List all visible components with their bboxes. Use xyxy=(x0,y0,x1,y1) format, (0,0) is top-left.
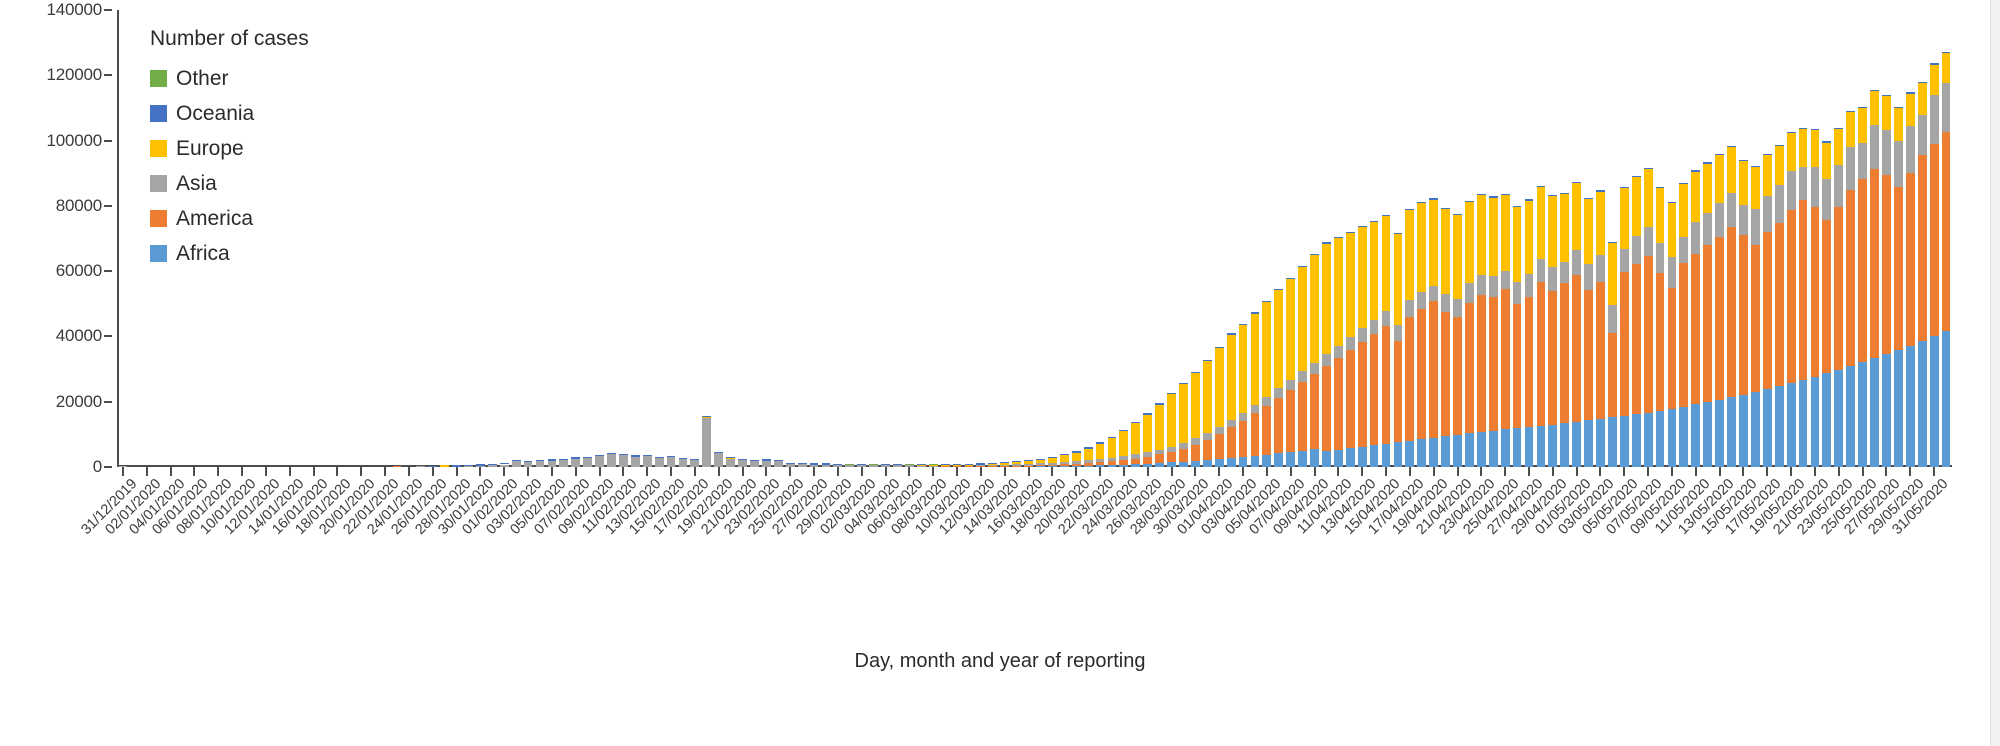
bar-segment-oceania xyxy=(1453,214,1462,215)
bar-segment-africa xyxy=(1370,445,1379,467)
bar-column[interactable] xyxy=(1584,199,1593,467)
x-axis-tick-mark xyxy=(1504,467,1506,476)
bar-segment-oceania xyxy=(1584,198,1593,199)
bar-column[interactable] xyxy=(1691,172,1700,467)
bar-segment-oceania xyxy=(1072,451,1081,452)
bar-segment-asia xyxy=(1227,420,1236,428)
bar-segment-europe xyxy=(1560,194,1569,263)
bar-column[interactable] xyxy=(559,460,568,467)
bar-segment-asia xyxy=(1870,125,1879,169)
bar-segment-africa xyxy=(1298,451,1307,467)
bar-segment-asia xyxy=(1525,274,1534,297)
bar-column[interactable] xyxy=(1596,192,1605,467)
bar-segment-america xyxy=(1942,132,1951,331)
bar-segment-europe xyxy=(1525,201,1534,274)
bar-segment-europe xyxy=(1596,192,1605,256)
bar-column[interactable] xyxy=(1787,133,1796,467)
bar-segment-oceania xyxy=(1370,221,1379,222)
bar-segment-europe xyxy=(1405,210,1414,300)
bar-segment-europe xyxy=(1906,94,1915,126)
bar-segment-africa xyxy=(1417,439,1426,467)
bar-segment-oceania xyxy=(1882,95,1891,96)
y-axis-tick-mark xyxy=(104,270,112,272)
bar-segment-africa xyxy=(1358,447,1367,467)
bar-column[interactable] xyxy=(1429,199,1438,467)
bar-column[interactable] xyxy=(1453,215,1462,467)
bar-segment-america xyxy=(1560,283,1569,423)
bar-segment-oceania xyxy=(1143,413,1152,415)
bar-segment-oceania xyxy=(1131,422,1140,424)
x-axis-tick-mark xyxy=(1242,467,1244,476)
bar-column[interactable] xyxy=(1477,195,1486,467)
bar-segment-oceania xyxy=(1119,430,1128,432)
bar-column[interactable] xyxy=(1119,430,1128,467)
bar-segment-africa xyxy=(1537,426,1546,467)
bar-segment-america xyxy=(1930,144,1939,337)
bar-segment-europe xyxy=(1799,129,1808,167)
legend-swatch-asia-icon xyxy=(150,175,167,192)
x-axis-tick-mark xyxy=(313,467,315,476)
bar-segment-africa xyxy=(1799,380,1808,467)
bar-segment-africa xyxy=(1322,451,1331,467)
bar-column[interactable] xyxy=(1703,164,1712,467)
bar-column[interactable] xyxy=(1251,313,1260,467)
bar-segment-oceania xyxy=(1358,226,1367,227)
bar-column[interactable] xyxy=(1727,147,1736,467)
bar-column[interactable] xyxy=(1715,155,1724,467)
bar-column[interactable] xyxy=(571,458,580,467)
bar-segment-oceania xyxy=(1763,154,1772,155)
bar-column[interactable] xyxy=(1763,155,1772,467)
bar-segment-africa xyxy=(1846,366,1855,467)
bar-segment-asia xyxy=(1548,267,1557,291)
bar-segment-africa xyxy=(1215,459,1224,467)
bar-column[interactable] xyxy=(1644,169,1653,467)
bar-segment-europe xyxy=(1620,188,1629,248)
bar-column[interactable] xyxy=(1858,108,1867,467)
bar-segment-europe xyxy=(1119,431,1128,456)
bar-segment-oceania xyxy=(1525,199,1534,200)
bar-segment-oceania xyxy=(1155,403,1164,405)
bar-segment-america xyxy=(1346,350,1355,448)
bar-segment-oceania xyxy=(1227,333,1236,334)
x-axis-tick-mark xyxy=(122,467,124,476)
bar-segment-europe xyxy=(1846,112,1855,147)
legend-item-other[interactable]: Other xyxy=(150,61,410,96)
x-axis-tick-mark xyxy=(1695,467,1697,476)
bar-column[interactable] xyxy=(1930,65,1939,467)
bar-column[interactable] xyxy=(1822,143,1831,467)
bar-segment-america xyxy=(1644,256,1653,413)
bar-column[interactable] xyxy=(1358,227,1367,467)
bar-segment-america xyxy=(1525,297,1534,428)
bar-column[interactable] xyxy=(1072,451,1081,467)
bar-column[interactable] xyxy=(1870,91,1879,467)
bar-column[interactable] xyxy=(1834,129,1843,467)
bar-segment-oceania xyxy=(893,464,902,465)
legend-swatch-america-icon xyxy=(150,210,167,227)
legend-item-oceania[interactable]: Oceania xyxy=(150,96,410,131)
bar-segment-asia xyxy=(1477,275,1486,295)
bar-segment-oceania xyxy=(1012,461,1021,462)
bar-segment-oceania xyxy=(1000,462,1009,463)
bar-column[interactable] xyxy=(1310,255,1319,467)
bar-segment-europe xyxy=(1679,184,1688,236)
bar-segment-america xyxy=(1870,169,1879,358)
bar-column[interactable] xyxy=(1322,243,1331,467)
bar-column[interactable] xyxy=(1179,383,1188,467)
bar-segment-asia xyxy=(1251,405,1260,413)
x-axis-tick-mark xyxy=(646,467,648,476)
bar-segment-america xyxy=(1584,290,1593,421)
covid-cases-stacked-bar-chart: 140000120000100000800006000040000200000 … xyxy=(0,0,2000,746)
bar-segment-asia xyxy=(1489,276,1498,297)
bar-segment-asia xyxy=(1644,227,1653,256)
x-axis-tick-mark xyxy=(956,467,958,476)
bar-column[interactable] xyxy=(679,459,688,467)
bar-segment-europe xyxy=(1882,96,1891,129)
bar-segment-oceania xyxy=(988,463,997,464)
bar-segment-africa xyxy=(1775,386,1784,467)
bar-segment-oceania xyxy=(536,460,545,461)
bar-segment-asia xyxy=(1787,171,1796,210)
bar-column[interactable] xyxy=(1382,216,1391,467)
bar-segment-america xyxy=(1072,464,1081,466)
bar-segment-oceania xyxy=(1751,166,1760,167)
bar-segment-europe xyxy=(1465,202,1474,284)
bar-segment-asia xyxy=(607,454,616,467)
bar-column[interactable] xyxy=(1048,457,1057,467)
bar-column[interactable] xyxy=(1334,238,1343,467)
bar-segment-america xyxy=(1715,237,1724,400)
bar-column[interactable] xyxy=(1775,146,1784,467)
bar-segment-oceania xyxy=(1024,460,1033,461)
y-axis-tick-mark xyxy=(104,74,112,76)
bar-column[interactable] xyxy=(1465,202,1474,467)
bar-segment-oceania xyxy=(583,457,592,458)
x-axis-tick-mark xyxy=(908,467,910,476)
bar-segment-america xyxy=(1548,291,1557,425)
y-axis-tick-label: 80000 xyxy=(56,196,102,216)
bar-segment-america xyxy=(1060,464,1069,466)
bar-column[interactable] xyxy=(1346,232,1355,467)
bar-segment-america xyxy=(1262,406,1271,455)
bar-column[interactable] xyxy=(1513,207,1522,467)
bar-segment-america xyxy=(1465,303,1474,434)
legend-item-america[interactable]: America xyxy=(150,201,410,236)
legend-item-asia[interactable]: Asia xyxy=(150,166,410,201)
x-axis-tick-mark xyxy=(1790,467,1792,476)
bar-column[interactable] xyxy=(1751,167,1760,467)
bar-column[interactable] xyxy=(1799,129,1808,467)
bar-column[interactable] xyxy=(1143,413,1152,467)
bar-column[interactable] xyxy=(1203,360,1212,467)
bar-segment-america xyxy=(1882,175,1891,355)
x-axis-tick-mark xyxy=(1719,467,1721,476)
bar-segment-oceania xyxy=(1560,193,1569,194)
bar-segment-asia xyxy=(1739,205,1748,235)
bar-segment-oceania xyxy=(667,456,676,457)
bar-segment-europe xyxy=(1191,373,1200,438)
bar-segment-africa xyxy=(1679,407,1688,467)
legend-items: OtherOceaniaEuropeAsiaAmericaAfrica xyxy=(150,61,410,271)
bar-column[interactable] xyxy=(1608,243,1617,467)
bar-segment-oceania xyxy=(1108,437,1117,439)
bar-segment-america xyxy=(1822,220,1831,373)
bar-column[interactable] xyxy=(631,457,640,467)
x-axis-tick-mark xyxy=(1385,467,1387,476)
bar-segment-africa xyxy=(1227,458,1236,467)
bar-segment-asia xyxy=(1679,237,1688,263)
bar-segment-oceania xyxy=(1382,215,1391,216)
bar-column[interactable] xyxy=(643,456,652,467)
bar-segment-asia xyxy=(1608,305,1617,332)
bar-column[interactable] xyxy=(1906,93,1915,467)
bar-segment-asia xyxy=(631,457,640,467)
bar-segment-asia xyxy=(1799,167,1808,200)
bar-segment-asia xyxy=(690,460,699,467)
bar-column[interactable] xyxy=(1298,267,1307,467)
bar-column[interactable] xyxy=(1108,437,1117,467)
bar-segment-asia xyxy=(1394,325,1403,341)
bar-segment-africa xyxy=(1251,456,1260,467)
bar-column[interactable] xyxy=(1739,161,1748,467)
bar-column[interactable] xyxy=(1632,177,1641,467)
bar-segment-oceania xyxy=(1811,129,1820,130)
bar-column[interactable] xyxy=(1239,324,1248,467)
bar-column[interactable] xyxy=(1167,393,1176,467)
legend-item-europe[interactable]: Europe xyxy=(150,131,410,166)
bar-segment-asia xyxy=(1429,286,1438,301)
x-axis-tick-mark xyxy=(1862,467,1864,476)
bar-segment-europe xyxy=(1870,91,1879,125)
x-axis-tick-mark xyxy=(599,467,601,476)
bar-column[interactable] xyxy=(1894,108,1903,467)
bar-segment-africa xyxy=(1441,436,1450,467)
bar-column[interactable] xyxy=(1286,278,1295,467)
legend-item-africa[interactable]: Africa xyxy=(150,236,410,271)
bar-segment-africa xyxy=(1465,433,1474,467)
bar-column[interactable] xyxy=(667,457,676,467)
bar-segment-america xyxy=(1739,235,1748,395)
bar-column[interactable] xyxy=(1679,184,1688,467)
bar-column[interactable] xyxy=(738,460,747,467)
bar-segment-america xyxy=(1858,179,1867,362)
bar-segment-asia xyxy=(1048,463,1057,465)
bar-segment-oceania xyxy=(1513,206,1522,207)
bar-column[interactable] xyxy=(1227,334,1236,467)
bar-column[interactable] xyxy=(1882,96,1891,467)
bar-segment-europe xyxy=(1394,234,1403,325)
bar-segment-oceania xyxy=(1858,107,1867,108)
bar-segment-oceania xyxy=(1167,393,1176,394)
bar-segment-europe xyxy=(1930,65,1939,96)
bar-column[interactable] xyxy=(1560,194,1569,467)
bar-column[interactable] xyxy=(1155,403,1164,467)
bar-column[interactable] xyxy=(1811,130,1820,467)
bar-segment-asia xyxy=(1072,461,1081,464)
bar-segment-africa xyxy=(1572,422,1581,467)
bar-segment-europe xyxy=(1155,405,1164,450)
bar-segment-oceania xyxy=(679,458,688,459)
x-axis-tick-mark xyxy=(1075,467,1077,476)
bar-column[interactable] xyxy=(1131,422,1140,467)
x-axis-tick-mark xyxy=(1814,467,1816,476)
bar-segment-europe xyxy=(1489,198,1498,276)
x-axis-title-text: Day, month and year of reporting xyxy=(855,650,1146,673)
bar-segment-asia xyxy=(1215,427,1224,434)
bar-segment-oceania xyxy=(1727,146,1736,147)
bar-segment-america xyxy=(1894,187,1903,350)
bar-column[interactable] xyxy=(1656,188,1665,467)
bar-column[interactable] xyxy=(1096,442,1105,467)
bar-column[interactable] xyxy=(1215,347,1224,467)
bar-column[interactable] xyxy=(1036,459,1045,467)
bar-segment-asia xyxy=(1131,454,1140,458)
bar-segment-oceania xyxy=(1703,162,1712,163)
bar-segment-asia xyxy=(1405,300,1414,316)
bar-segment-america xyxy=(1298,382,1307,451)
bar-column[interactable] xyxy=(1405,210,1414,467)
bar-segment-asia xyxy=(1012,464,1021,465)
bar-segment-europe xyxy=(1858,108,1867,143)
bar-column[interactable] xyxy=(1548,196,1557,467)
bar-column[interactable] xyxy=(1537,187,1546,467)
y-axis-tick-label: 20000 xyxy=(56,392,102,412)
bar-column[interactable] xyxy=(619,455,628,467)
bar-segment-oceania xyxy=(1620,187,1629,188)
bar-segment-africa xyxy=(1668,409,1677,467)
x-axis-tick-mark xyxy=(789,467,791,476)
bar-segment-america xyxy=(1286,390,1295,452)
bar-segment-oceania xyxy=(619,454,628,455)
bar-column[interactable] xyxy=(595,456,604,467)
bar-segment-oceania xyxy=(1668,202,1677,203)
bar-segment-asia xyxy=(1906,126,1915,173)
bar-segment-oceania xyxy=(512,460,521,461)
bar-column[interactable] xyxy=(1262,301,1271,467)
bar-segment-asia xyxy=(1620,249,1629,273)
x-axis-tick-mark xyxy=(146,467,148,476)
bar-column[interactable] xyxy=(1525,201,1534,467)
bar-segment-oceania xyxy=(1834,128,1843,129)
bar-segment-oceania xyxy=(1799,128,1808,129)
bar-column[interactable] xyxy=(1942,53,1951,467)
bar-column[interactable] xyxy=(1191,372,1200,467)
bar-column[interactable] xyxy=(1501,195,1510,467)
bar-segment-europe xyxy=(1298,267,1307,371)
x-axis-tick-mark xyxy=(551,467,553,476)
bar-segment-asia xyxy=(714,453,723,467)
bar-segment-oceania xyxy=(1274,289,1283,290)
bar-segment-asia xyxy=(1656,243,1665,273)
bar-segment-europe xyxy=(1417,203,1426,291)
bar-segment-africa xyxy=(1548,425,1557,467)
bar-segment-oceania xyxy=(810,463,819,464)
bar-segment-oceania xyxy=(1846,111,1855,112)
x-axis-tick-mark xyxy=(241,467,243,476)
bar-segment-america xyxy=(1846,190,1855,366)
x-axis-tick-mark xyxy=(980,467,982,476)
bar-segment-asia xyxy=(1358,328,1367,342)
bar-column[interactable] xyxy=(583,458,592,467)
bar-segment-oceania xyxy=(690,459,699,460)
x-axis-tick-mark xyxy=(813,467,815,476)
page-scrollbar-edge[interactable] xyxy=(1990,0,2000,746)
bar-segment-europe xyxy=(1441,209,1450,294)
bar-column[interactable] xyxy=(1489,198,1498,467)
bar-segment-europe xyxy=(1227,335,1236,420)
bar-column[interactable] xyxy=(1846,112,1855,467)
bar-segment-oceania xyxy=(881,464,890,465)
bar-column[interactable] xyxy=(1370,222,1379,467)
x-axis-tick-mark xyxy=(1123,467,1125,476)
bar-segment-america xyxy=(1096,462,1105,465)
bar-segment-oceania xyxy=(1262,301,1271,302)
bar-segment-africa xyxy=(1715,400,1724,467)
bar-segment-asia xyxy=(1000,465,1009,466)
bar-segment-america xyxy=(1251,413,1260,455)
bar-column[interactable] xyxy=(1441,209,1450,467)
x-axis-tick-mark xyxy=(1194,467,1196,476)
x-axis-tick-mark xyxy=(170,467,172,476)
x-axis-tick-mark xyxy=(1051,467,1053,476)
bar-segment-america xyxy=(1691,254,1700,404)
bar-segment-asia xyxy=(726,459,735,467)
bar-segment-america xyxy=(1501,289,1510,429)
bar-column[interactable] xyxy=(1417,203,1426,467)
bar-segment-america xyxy=(1775,223,1784,386)
bar-column[interactable] xyxy=(690,460,699,467)
bar-segment-asia xyxy=(583,458,592,467)
bar-column[interactable] xyxy=(1668,203,1677,467)
bar-column[interactable] xyxy=(1274,290,1283,467)
bar-segment-oceania xyxy=(1322,242,1331,243)
x-axis-tick-mark xyxy=(1623,467,1625,476)
bar-column[interactable] xyxy=(1394,234,1403,467)
bar-segment-europe xyxy=(1548,196,1557,266)
bar-segment-america xyxy=(1131,459,1140,465)
x-axis-tick-mark xyxy=(408,467,410,476)
bar-segment-oceania xyxy=(786,463,795,464)
bar-segment-europe xyxy=(1131,423,1140,454)
bar-segment-america xyxy=(1382,326,1391,444)
bar-column[interactable] xyxy=(702,417,711,467)
bar-segment-oceania xyxy=(1822,141,1831,142)
bar-segment-asia xyxy=(1942,83,1951,132)
bar-segment-oceania xyxy=(702,416,711,417)
bar-segment-asia xyxy=(1274,388,1283,398)
bar-segment-america xyxy=(1322,366,1331,451)
bar-column[interactable] xyxy=(655,458,664,467)
bar-column[interactable] xyxy=(714,453,723,467)
bar-segment-asia xyxy=(1775,185,1784,223)
bar-column[interactable] xyxy=(1918,83,1927,467)
x-axis-tick-mark xyxy=(1885,467,1887,476)
legend-item-label: Africa xyxy=(176,242,230,266)
bar-column[interactable] xyxy=(726,458,735,467)
bar-column[interactable] xyxy=(1572,183,1581,467)
bar-column[interactable] xyxy=(1060,454,1069,467)
x-axis-tick-mark xyxy=(1433,467,1435,476)
bar-segment-oceania xyxy=(798,463,807,464)
x-axis-tick-mark xyxy=(694,467,696,476)
bar-column[interactable] xyxy=(607,454,616,467)
bar-column[interactable] xyxy=(1084,447,1093,467)
bar-column[interactable] xyxy=(1620,188,1629,467)
bar-segment-oceania xyxy=(1679,183,1688,184)
x-axis-tick-mark xyxy=(1742,467,1744,476)
